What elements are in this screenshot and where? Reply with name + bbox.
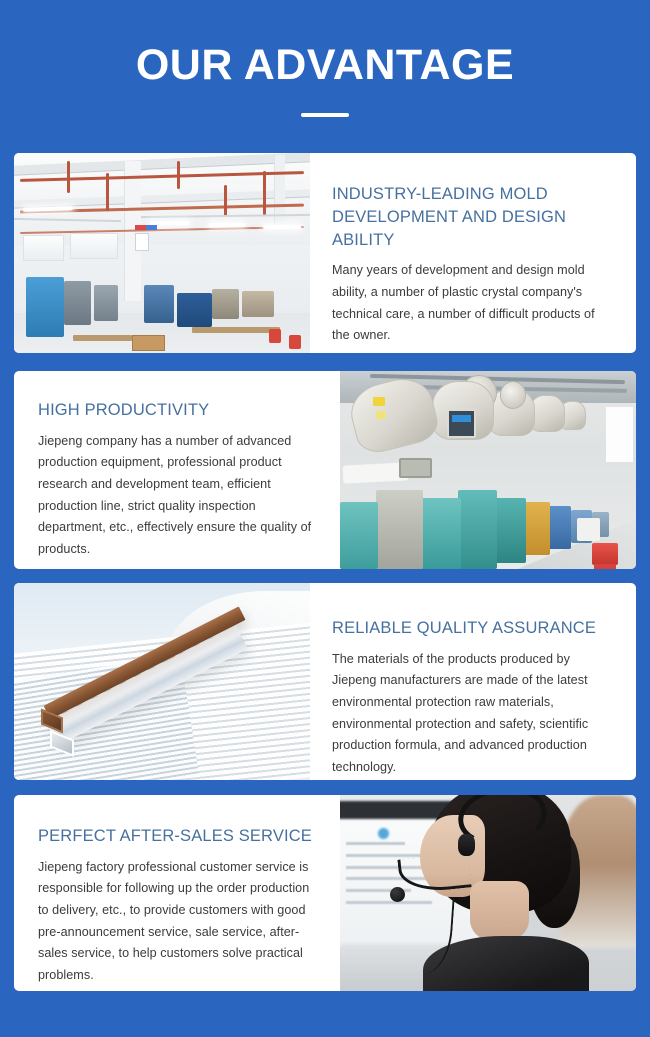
factory-workshop-photo bbox=[14, 153, 310, 353]
section-header: OUR ADVANTAGE bbox=[0, 0, 650, 153]
page-title: OUR ADVANTAGE bbox=[0, 44, 650, 87]
card-description: Jiepeng company has a number of advanced… bbox=[38, 431, 322, 561]
card-title: INDUSTRY-LEADING MOLD DEVELOPMENT AND DE… bbox=[332, 183, 612, 251]
card-title: HIGH PRODUCTIVITY bbox=[38, 399, 322, 422]
extruded-profiles-photo bbox=[14, 583, 310, 780]
card-body: PERFECT AFTER-SALES SERVICE Jiepeng fact… bbox=[14, 795, 340, 991]
card-body: HIGH PRODUCTIVITY Jiepeng company has a … bbox=[14, 371, 340, 569]
advantage-card-industry-leading-mold-development[interactable]: INDUSTRY-LEADING MOLD DEVELOPMENT AND DE… bbox=[14, 153, 636, 353]
card-body: RELIABLE QUALITY ASSURANCE The materials… bbox=[310, 583, 636, 780]
card-description: Jiepeng factory professional customer se… bbox=[38, 857, 322, 987]
advantage-section: OUR ADVANTAGE bbox=[0, 0, 650, 1037]
card-body: INDUSTRY-LEADING MOLD DEVELOPMENT AND DE… bbox=[310, 153, 636, 353]
card-description: The materials of the products produced b… bbox=[332, 649, 612, 779]
advantage-card-perfect-after-sales-service[interactable]: PERFECT AFTER-SALES SERVICE Jiepeng fact… bbox=[14, 795, 636, 991]
advantage-card-reliable-quality-assurance[interactable]: RELIABLE QUALITY ASSURANCE The materials… bbox=[14, 583, 636, 780]
card-title: RELIABLE QUALITY ASSURANCE bbox=[332, 617, 612, 640]
card-title: PERFECT AFTER-SALES SERVICE bbox=[38, 825, 322, 848]
customer-service-agent-photo bbox=[340, 795, 636, 991]
title-underline-divider bbox=[301, 113, 349, 117]
card-description: Many years of development and design mol… bbox=[332, 260, 612, 347]
injection-molding-machines-photo bbox=[340, 371, 636, 569]
advantage-card-high-productivity[interactable]: HIGH PRODUCTIVITY Jiepeng company has a … bbox=[14, 371, 636, 569]
